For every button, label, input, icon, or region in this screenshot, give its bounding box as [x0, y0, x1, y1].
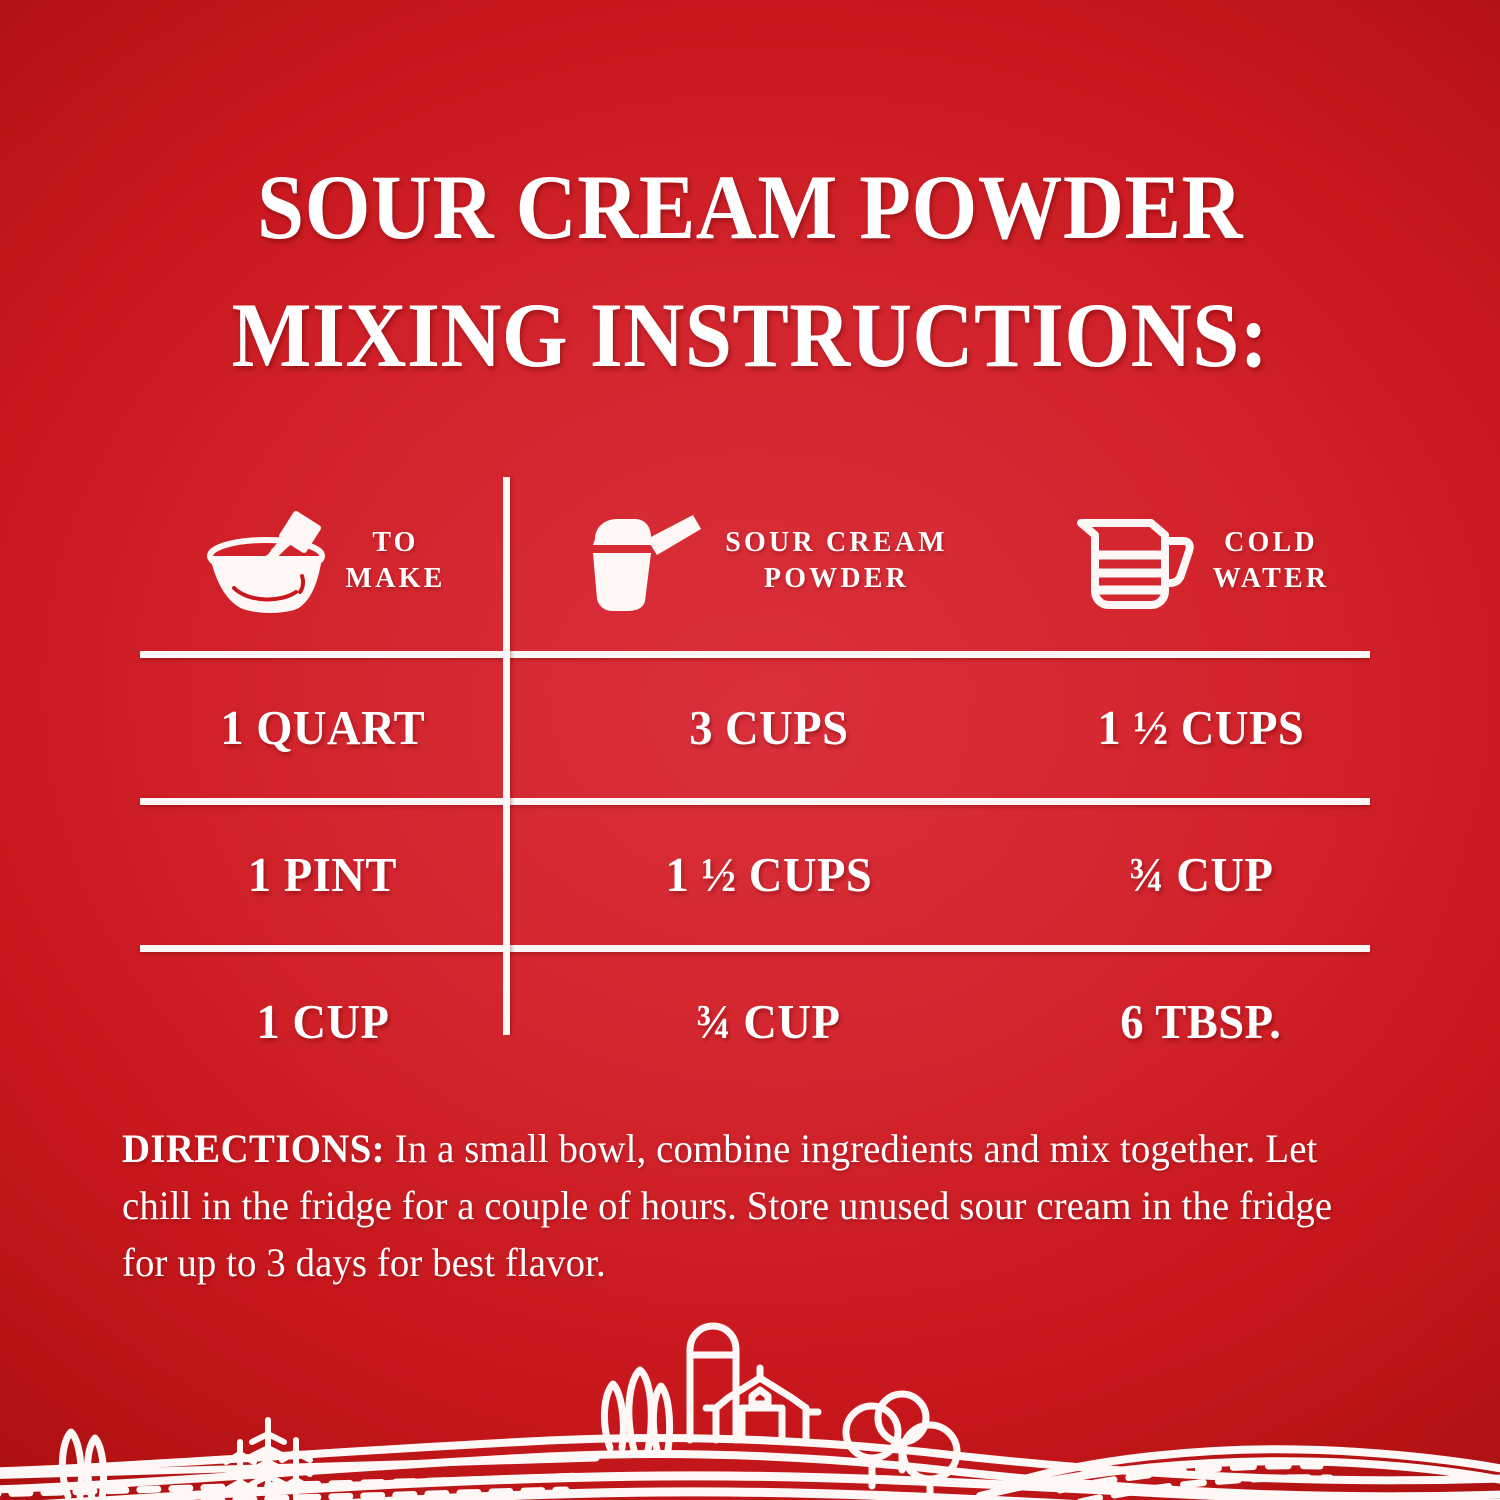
- header-line-1: SOUR CREAM: [725, 527, 948, 558]
- table-cell-water: 1 ½ CUPS: [1032, 700, 1370, 756]
- cell-value: 3 CUPS: [689, 700, 848, 756]
- page-title: SOUR CREAM POWDER MIXING INSTRUCTIONS:: [0, 143, 1500, 399]
- table-header-to-make: TO MAKE: [140, 506, 505, 616]
- barn: [706, 1368, 818, 1440]
- table-cell-powder: 3 CUPS: [505, 700, 1032, 756]
- table-header-to-make-label: TO MAKE: [346, 525, 446, 597]
- header-line-1: TO: [372, 527, 418, 558]
- header-line-2: POWDER: [764, 563, 909, 594]
- table-row: 1 QUART 3 CUPS 1 ½ CUPS: [140, 658, 1370, 798]
- directions-paragraph: DIRECTIONS: In a small bowl, combine ing…: [122, 1120, 1346, 1291]
- header-line-2: MAKE: [346, 563, 446, 594]
- cell-value: 1 ½ CUPS: [665, 847, 872, 903]
- cell-value: 6 TBSP.: [1120, 994, 1281, 1050]
- table-column-divider: [503, 477, 510, 1035]
- header-line-1: COLD: [1224, 527, 1318, 558]
- table-header-row: TO MAKE: [140, 470, 1370, 651]
- mixing-ratio-table: TO MAKE: [140, 470, 1370, 1092]
- table-rule-3: [140, 945, 1370, 952]
- table-header-water: COLD WATER: [1032, 511, 1370, 611]
- cell-value: 1 QUART: [220, 700, 425, 756]
- table-header-powder: SOUR CREAM POWDER: [505, 509, 1032, 613]
- table-cell-to-make: 1 QUART: [140, 700, 505, 756]
- mixing-bowl-whisk-icon: [200, 506, 330, 616]
- table-header-water-label: COLD WATER: [1213, 525, 1330, 597]
- table-row: 1 PINT 1 ½ CUPS ¾ CUP: [140, 805, 1370, 945]
- cell-value: 1 CUP: [256, 994, 389, 1050]
- table-cell-to-make: 1 CUP: [140, 994, 505, 1050]
- title-line-1: SOUR CREAM POWDER: [115, 143, 1385, 271]
- measuring-scoop-icon: [589, 509, 709, 613]
- table-cell-powder: 1 ½ CUPS: [505, 847, 1032, 903]
- title-line-2: MIXING INSTRUCTIONS:: [115, 271, 1385, 399]
- cell-value: ¾ CUP: [1129, 847, 1274, 903]
- farm-landscape-illustration: [0, 1300, 1500, 1500]
- table-rule-1: [140, 651, 1370, 658]
- table-cell-water: ¾ CUP: [1032, 847, 1370, 903]
- cell-value: ¾ CUP: [696, 994, 841, 1050]
- header-line-2: WATER: [1213, 563, 1330, 594]
- table-rule-2: [140, 798, 1370, 805]
- measuring-cup-icon: [1073, 511, 1197, 611]
- directions-label: DIRECTIONS:: [122, 1126, 385, 1171]
- table-row: 1 CUP ¾ CUP 6 TBSP.: [140, 952, 1370, 1092]
- table-cell-powder: ¾ CUP: [505, 994, 1032, 1050]
- table-header-powder-label: SOUR CREAM POWDER: [725, 525, 948, 597]
- table-cell-to-make: 1 PINT: [140, 847, 505, 903]
- poster-canvas: SOUR CREAM POWDER MIXING INSTRUCTIONS:: [0, 0, 1500, 1500]
- cell-value: 1 PINT: [248, 847, 397, 903]
- cell-value: 1 ½ CUPS: [1098, 700, 1305, 756]
- table-cell-water: 6 TBSP.: [1032, 994, 1370, 1050]
